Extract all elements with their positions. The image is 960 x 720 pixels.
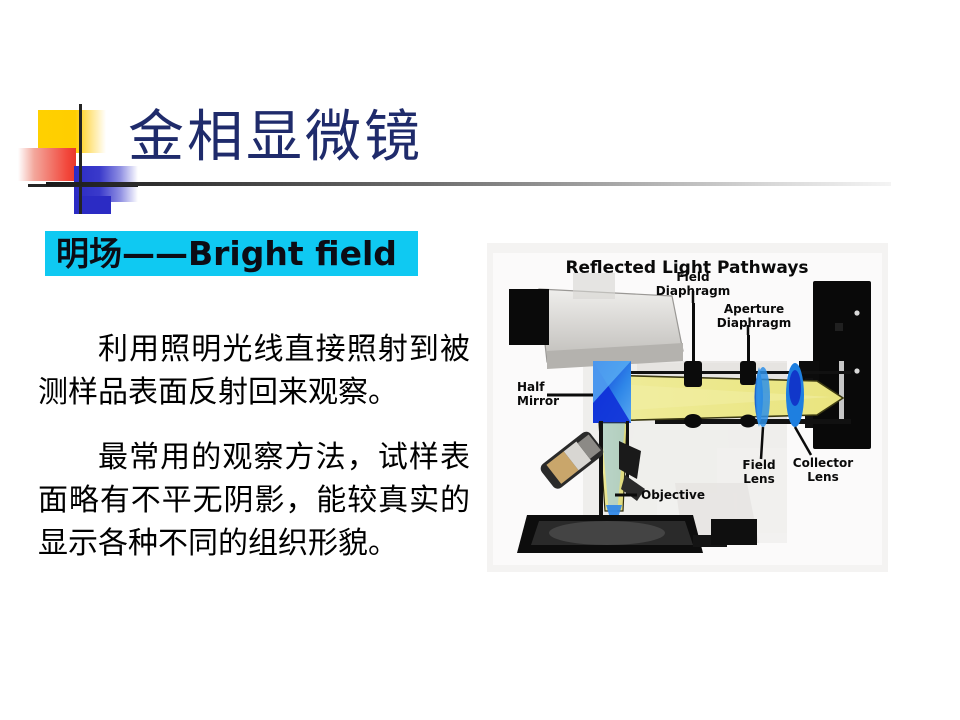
svg-text:Lens: Lens (743, 472, 774, 486)
lamp-housing-vent (835, 323, 843, 331)
deco-yellow-square (38, 110, 106, 153)
svg-text:Diaphragm: Diaphragm (717, 316, 791, 330)
field-diaphragm-lower-knob (684, 414, 702, 428)
beam-edge-left (599, 421, 603, 517)
title-underline-rule (46, 182, 891, 186)
svg-text:Objective: Objective (641, 488, 705, 502)
field-diaphragm-block (684, 361, 702, 387)
slide-canvas: 金相显微镜 明场——Bright field 利用照明光线直接照射到被测样品表面… (0, 0, 960, 720)
svg-text:Diaphragm: Diaphragm (656, 284, 730, 298)
page-title: 金相显微镜 (128, 106, 423, 170)
decorative-logo-block (18, 104, 138, 214)
svg-text:Collector: Collector (793, 456, 854, 470)
optical-rail-top (599, 371, 851, 374)
subtitle-banner-label: 明场——Bright field (45, 237, 397, 271)
diagram-svg: Reflected Light Pathways Field Diaphragm… (487, 243, 888, 572)
paragraph-2: 最常用的观察方法，试样表面略有不平无阴影，能较真实的显示各种不同的组织形貌。 (38, 436, 470, 565)
lamp-housing-screw-2 (854, 368, 859, 373)
reflected-light-pathways-figure: Reflected Light Pathways Field Diaphragm… (487, 243, 888, 572)
svg-text:Aperture: Aperture (724, 302, 784, 316)
aperture-diaphragm-lower-knob (740, 415, 756, 428)
aperture-diaphragm-stem (747, 335, 750, 365)
body-text-block: 利用照明光线直接照射到被测样品表面反射回来观察。 最常用的观察方法，试样表面略有… (38, 328, 470, 565)
lamp-filament (839, 361, 844, 423)
stage-side-block (711, 519, 757, 545)
deco-vertical-line (79, 104, 82, 214)
aperture-diaphragm-block (740, 361, 756, 385)
lamp-housing-screw-1 (854, 310, 859, 315)
svg-text:Mirror: Mirror (517, 394, 559, 408)
label-aperture-diaphragm: Aperture Diaphragm (717, 302, 791, 330)
svg-text:Lens: Lens (807, 470, 838, 484)
eyepiece-tube-black (509, 289, 549, 345)
label-field-lens: Field Lens (742, 458, 775, 486)
field-lens-glass (756, 367, 770, 427)
paragraph-1: 利用照明光线直接照射到被测样品表面反射回来观察。 (38, 328, 470, 414)
svg-text:Half: Half (517, 380, 545, 394)
label-objective: Objective (641, 488, 705, 502)
subtitle-banner: 明场——Bright field (45, 231, 418, 276)
specimen-sample (549, 521, 665, 545)
field-diaphragm-stem (692, 303, 695, 365)
svg-text:Field: Field (676, 270, 709, 284)
deco-red-square (18, 148, 76, 181)
svg-text:Field: Field (742, 458, 775, 472)
collector-lens-core (789, 370, 801, 406)
